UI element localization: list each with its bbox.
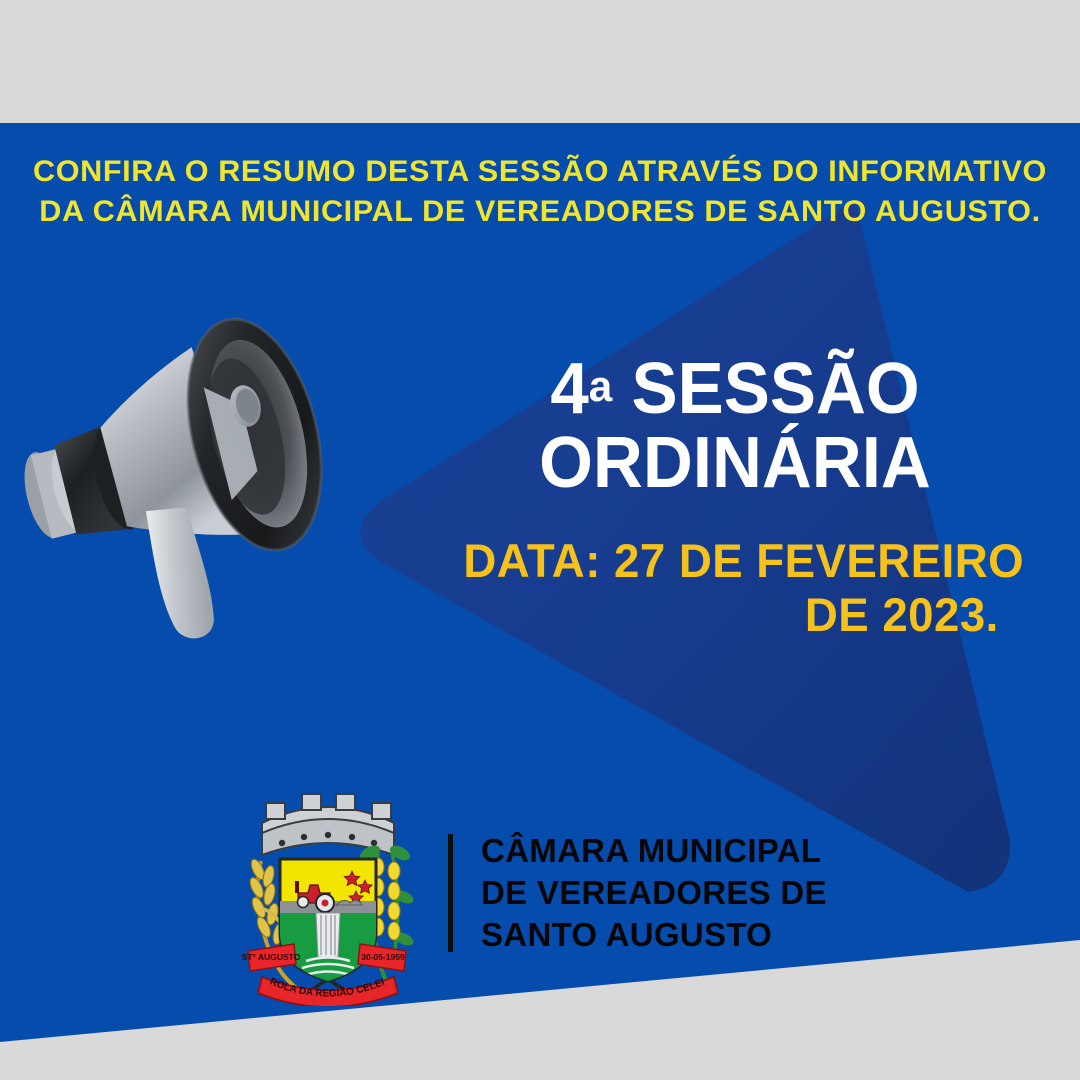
session-date-line-2: DE 2023. — [463, 588, 998, 642]
shield — [280, 859, 376, 986]
subtitle-text: CONFIRA O RESUMO DESTA SESSÃO ATRAVÉS DO… — [30, 152, 1050, 232]
coat-of-arms-icon: ST° AUGUSTO 30-05-1959 PÉROLA DA REGIÃO … — [232, 781, 424, 1006]
megaphone-icon — [5, 248, 365, 658]
subtitle-line-2: DA CÂMARA MUNICIPAL DE VEREADORES DE SAN… — [30, 192, 1050, 232]
footer-divider — [448, 834, 453, 952]
scroll-left-text: ST° AUGUSTO — [242, 952, 301, 962]
organisation-name: CÂMARA MUNICIPAL DE VEREADORES DE SANTO … — [481, 830, 827, 956]
subtitle-line-1: CONFIRA O RESUMO DESTA SESSÃO ATRAVÉS DO… — [30, 152, 1050, 192]
session-title-line-2: ORDINÁRIA — [466, 426, 1004, 500]
poster-canvas: BOLETIM INFORMATIVO CONFIRA O RESUMO DES… — [0, 0, 1080, 1080]
main-content: 4a SESSÃO ORDINÁRIA DATA: 27 DE FEVEREIR… — [455, 350, 1015, 642]
session-title: 4a SESSÃO ORDINÁRIA — [466, 350, 1004, 500]
footer-branding: ST° AUGUSTO 30-05-1959 PÉROLA DA REGIÃO … — [232, 778, 912, 1008]
session-date-line-1: DATA: 27 DE FEVEREIRO — [463, 534, 998, 588]
organisation-name-line-1: CÂMARA MUNICIPAL — [481, 830, 827, 872]
session-ordinal-suffix: a — [589, 362, 613, 411]
session-date: DATA: 27 DE FEVEREIRO DE 2023. — [463, 534, 1006, 642]
organisation-name-line-2: DE VEREADORES DE — [481, 872, 827, 914]
session-word: SESSÃO — [632, 349, 920, 429]
session-title-line-1: 4a SESSÃO — [466, 350, 1004, 426]
scroll-right-text: 30-05-1959 — [361, 952, 405, 962]
header-band — [0, 0, 1080, 123]
organisation-name-line-3: SANTO AUGUSTO — [481, 914, 827, 956]
session-number: 4 — [550, 349, 588, 429]
